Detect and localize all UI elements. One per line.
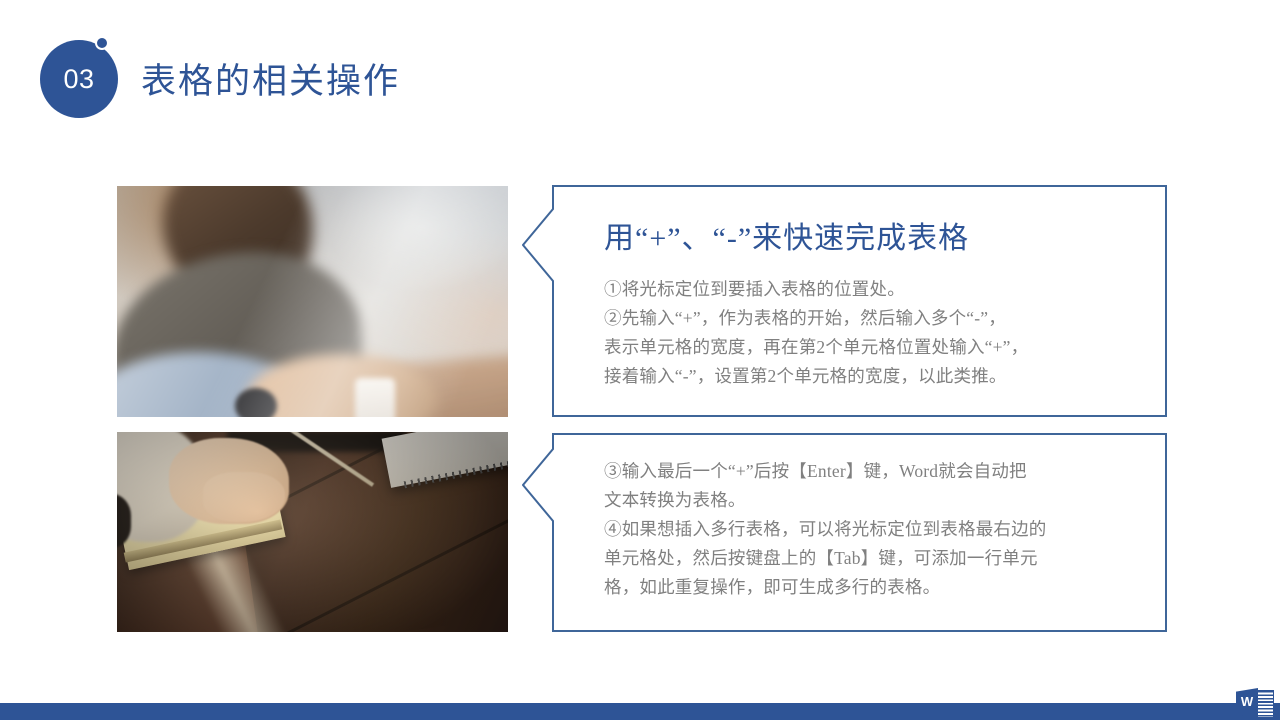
callout-1-title: 用“+”、“-”来快速完成表格 [604, 213, 969, 257]
section-badge: 03 [40, 32, 128, 120]
photo-writing [117, 432, 508, 632]
callout-2-line: ④如果想插入多行表格，可以将光标定位到表格最右边的 [604, 515, 1149, 544]
callout-1-line: 接着输入“-”，设置第2个单元格的宽度，以此类推。 [604, 362, 1149, 391]
callout-2-line: 格，如此重复操作，即可生成多行的表格。 [604, 573, 1149, 602]
word-logo-letter: W [1236, 694, 1258, 710]
callout-2-content: ③输入最后一个“+”后按【Enter】键，Word就会自动把 文本转换为表格。 … [580, 433, 1153, 632]
footer-bar [0, 703, 1280, 720]
photo-writing-vignette [117, 432, 508, 632]
callout-box-1: 用“+”、“-”来快速完成表格 ①将光标定位到要插入表格的位置处。 ②先输入“+… [522, 185, 1167, 417]
callout-1-line: 表示单元格的宽度，再在第2个单元格位置处输入“+”， [604, 333, 1149, 362]
callout-1-body: ①将光标定位到要插入表格的位置处。 ②先输入“+”，作为表格的开始，然后输入多个… [604, 275, 1149, 391]
callout-2-line: 单元格处，然后按键盘上的【Tab】键，可添加一行单元 [604, 544, 1149, 573]
callout-2-line: ③输入最后一个“+”后按【Enter】键，Word就会自动把 [604, 457, 1149, 486]
photo-meeting-light-haze [117, 186, 508, 417]
word-logo-icon: W [1236, 688, 1274, 720]
callout-2-body: ③输入最后一个“+”后按【Enter】键，Word就会自动把 文本转换为表格。 … [604, 457, 1149, 602]
section-number: 03 [40, 40, 118, 118]
callout-box-2: ③输入最后一个“+”后按【Enter】键，Word就会自动把 文本转换为表格。 … [522, 433, 1167, 632]
callout-1-line: ②先输入“+”，作为表格的开始，然后输入多个“-”， [604, 304, 1149, 333]
callout-2-line: 文本转换为表格。 [604, 486, 1149, 515]
callout-1-line: ①将光标定位到要插入表格的位置处。 [604, 275, 1149, 304]
slide-header: 03 表格的相关操作 [40, 32, 560, 118]
slide-canvas: 03 表格的相关操作 [0, 0, 1280, 720]
callout-1-content: 用“+”、“-”来快速完成表格 ①将光标定位到要插入表格的位置处。 ②先输入“+… [580, 185, 1153, 417]
badge-accent-dot-icon [95, 36, 109, 50]
page-title: 表格的相关操作 [141, 53, 400, 104]
photo-meeting [117, 186, 508, 417]
